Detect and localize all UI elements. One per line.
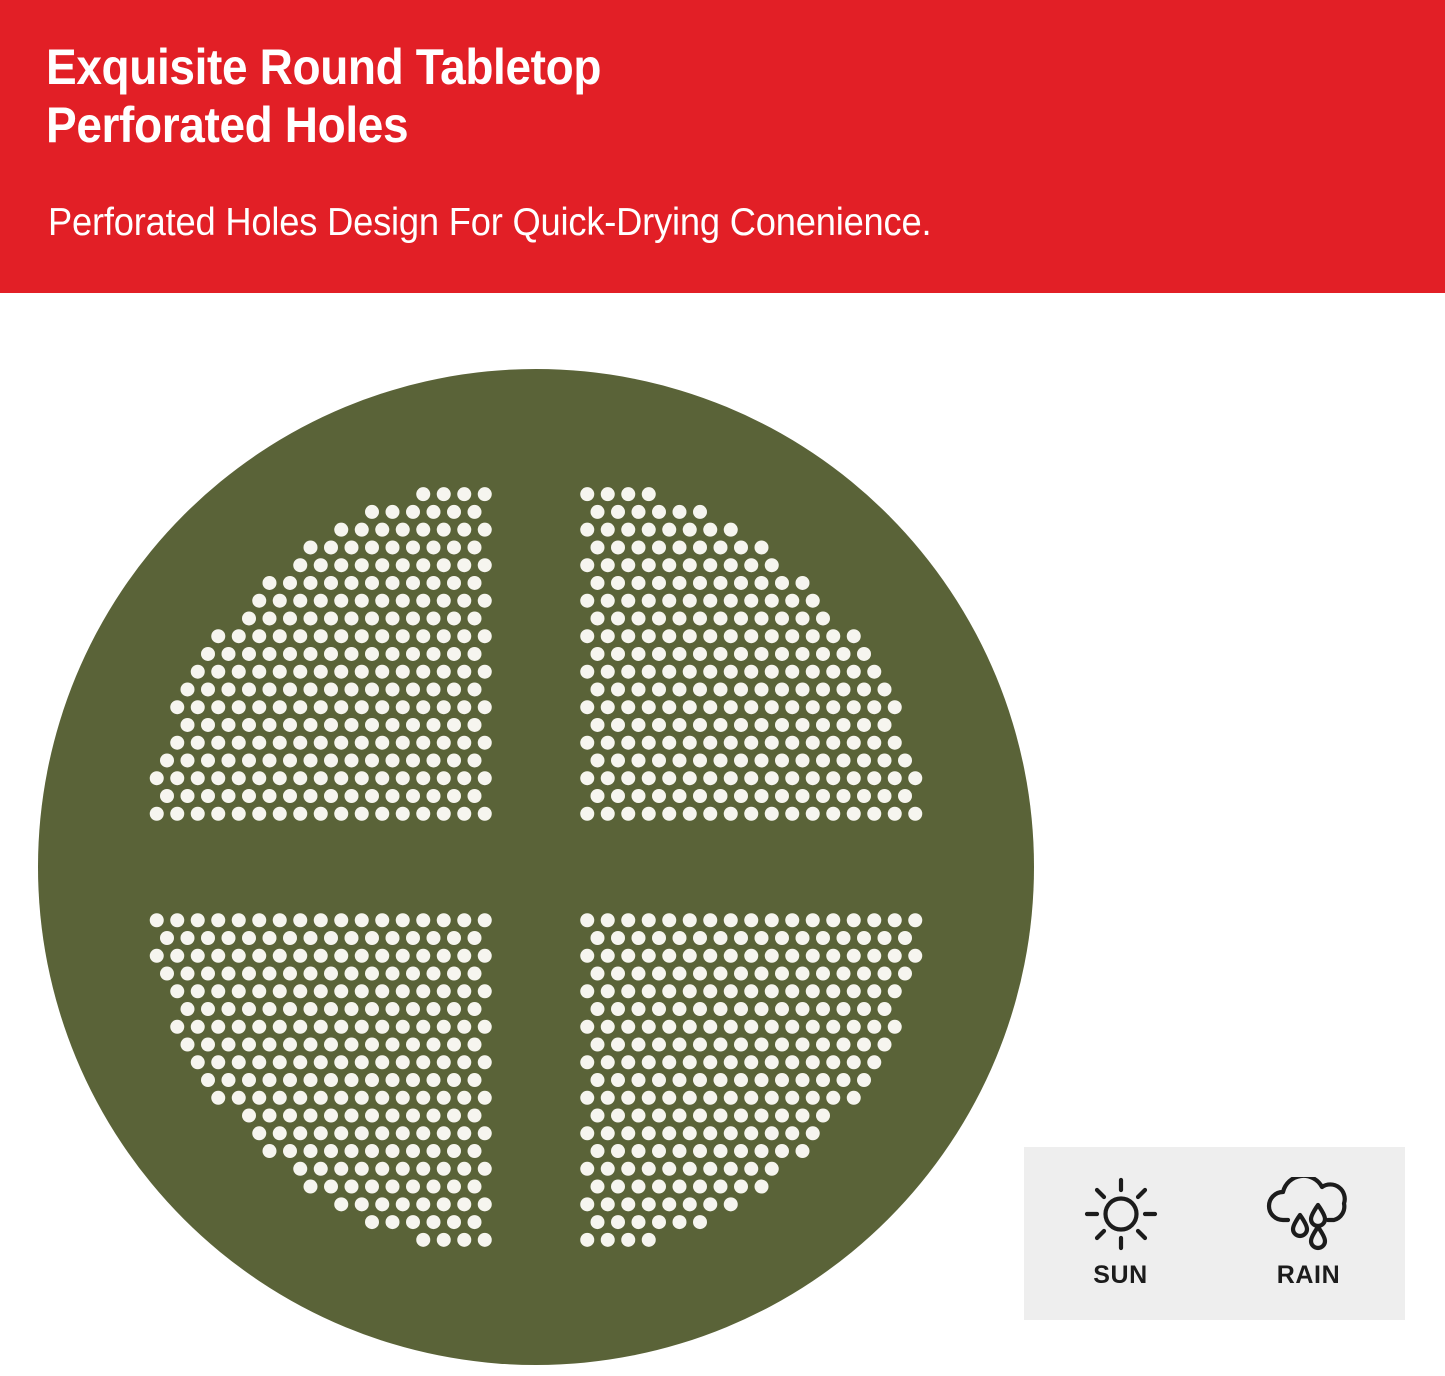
badge-label-rain: RAIN xyxy=(1277,1261,1341,1290)
weather-badge-panel: SUN RAIN xyxy=(1024,1147,1405,1320)
sun-icon xyxy=(1084,1177,1158,1251)
tabletop-disc xyxy=(38,369,1034,1365)
badge-label-sun: SUN xyxy=(1093,1261,1148,1290)
page-title: Exquisite Round Tabletop Perforated Hole… xyxy=(46,38,966,154)
page-subtitle: Perforated Holes Design For Quick-Drying… xyxy=(48,200,1294,246)
rain-cloud-icon xyxy=(1266,1177,1352,1251)
header-banner: Exquisite Round Tabletop Perforated Hole… xyxy=(0,0,1445,293)
badge-item-sun: SUN xyxy=(1056,1177,1186,1290)
badge-item-rain: RAIN xyxy=(1244,1177,1374,1290)
